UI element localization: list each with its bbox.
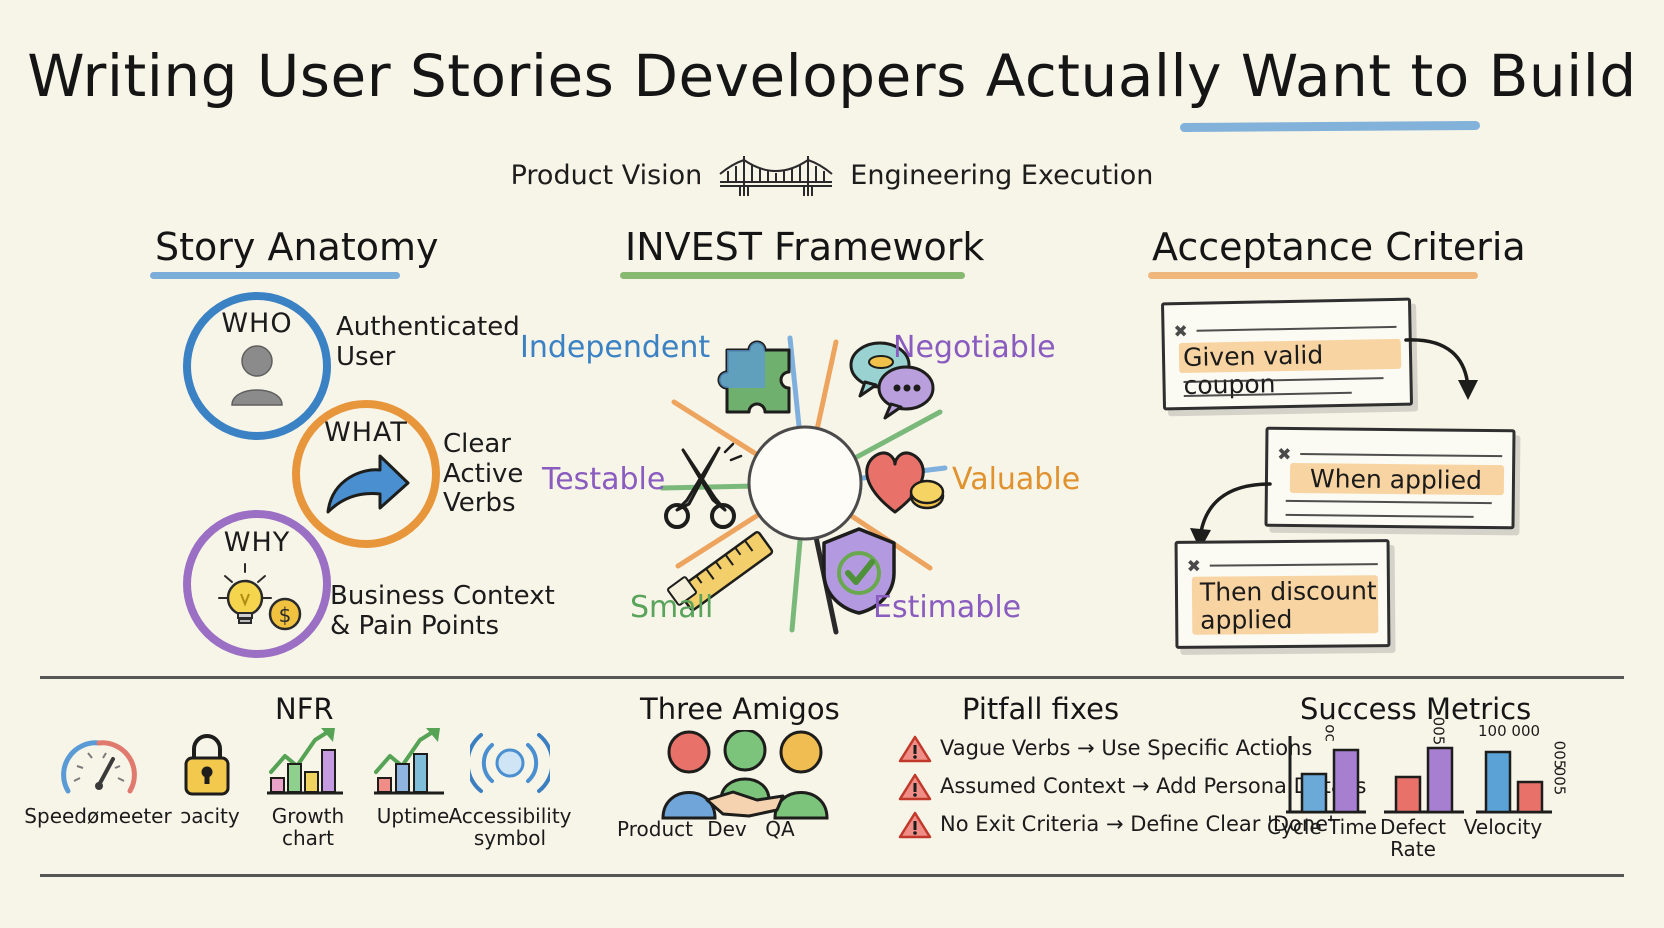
ac-card-then[interactable]: ✖ Then discount applied <box>1175 539 1391 649</box>
subtitle-right: Engineering Execution <box>850 160 1153 191</box>
band-divider-top <box>40 676 1624 679</box>
three-amigos-role-0: Product <box>610 818 700 840</box>
story-text-what: Clear Active Verbs <box>443 430 523 519</box>
success-metrics-title: Success Metrics <box>1300 692 1531 726</box>
nfr-label-4: Accessibility symbol <box>440 805 580 849</box>
close-icon[interactable]: ✖ <box>1187 557 1201 577</box>
close-icon[interactable]: ✖ <box>1173 322 1188 342</box>
nfr-label-2: Growth chart <box>248 805 368 849</box>
ac-card-given[interactable]: ✖ Given valid coupon <box>1161 298 1413 411</box>
story-ring-who-label: WHO <box>183 308 331 339</box>
invest-label-valuable: Valuable <box>952 462 1080 497</box>
invest-label-negotiable: Negotiable <box>893 330 1056 365</box>
close-icon[interactable]: ✖ <box>1277 445 1291 465</box>
invest-label-independent: Independent <box>520 330 710 365</box>
metric-chart-defect-rate <box>1378 730 1474 822</box>
ac-card-when-text: When applied <box>1310 465 1522 495</box>
ac-card-when[interactable]: ✖ When applied <box>1264 427 1515 530</box>
ac-rule <box>1300 453 1502 457</box>
story-text-who: Authenticated User <box>336 313 520 372</box>
nfr-title: NFR <box>275 692 334 726</box>
handshake-icon <box>645 730 845 826</box>
page-title: Writing User Stories Developers Actually… <box>0 42 1664 110</box>
ac-rule <box>1210 563 1378 566</box>
ac-rule <box>1286 500 1492 504</box>
curved-arrow-icon <box>1400 330 1486 416</box>
three-amigos-role-2: QA <box>745 818 815 840</box>
heart-coin-icon <box>855 440 951 524</box>
ac-card-then-text: Then discount applied <box>1200 577 1380 635</box>
metric-label-velocity: Velocity <box>1448 816 1558 838</box>
band-divider-bottom <box>40 874 1624 877</box>
person-icon <box>228 345 286 411</box>
pitfall-item-0: Vague Verbs → Use Specific Actions <box>940 736 1312 760</box>
uptime-chart-icon <box>370 724 452 804</box>
lock-icon <box>178 727 236 803</box>
warning-triangle-icon <box>898 734 932 768</box>
warning-triangle-icon <box>898 810 932 844</box>
column-title-invest: INVEST Framework <box>625 225 984 269</box>
ac-rule <box>1286 514 1474 518</box>
column-rule-story-anatomy <box>150 272 400 279</box>
title-underline <box>1180 121 1480 132</box>
column-title-acceptance: Acceptance Criteria <box>1152 225 1526 269</box>
story-text-why: Business Context & Pain Points <box>330 582 555 641</box>
column-title-story-anatomy: Story Anatomy <box>155 225 438 269</box>
pitfalls-title: Pitfall fixes <box>962 692 1119 726</box>
bridge-icon <box>716 152 836 198</box>
growth-chart-icon <box>265 724 347 804</box>
column-rule-acceptance <box>1148 272 1478 279</box>
accessibility-icon <box>470 727 550 803</box>
subtitle-row: Product Vision <box>0 152 1664 198</box>
ac-card-given-text: Given valid coupon <box>1183 340 1410 400</box>
column-rule-invest <box>620 272 965 279</box>
svg-text:$: $ <box>279 603 292 627</box>
metric-annotation-2: 100 000 <box>1478 722 1540 740</box>
story-ring-what-label: WHAT <box>292 417 440 448</box>
ac-rule <box>1197 326 1397 332</box>
metric-annotation-4: 005 <box>1550 767 1568 796</box>
puzzle-icon <box>715 338 801 428</box>
three-amigos-title: Three Amigos <box>640 692 840 726</box>
metric-annotation-0: oc <box>1322 724 1340 741</box>
arrow-icon <box>322 450 412 526</box>
infographic-canvas: Writing User Stories Developers Actually… <box>0 0 1664 928</box>
invest-label-estimable: Estimable <box>873 590 1021 625</box>
metric-annotation-1: 005 <box>1429 717 1447 746</box>
subtitle-left: Product Vision <box>511 160 703 191</box>
nfr-label-0: Speedømeeter <box>18 805 178 827</box>
invest-label-testable: Testable <box>542 462 665 497</box>
story-ring-why-label: WHY <box>183 527 331 558</box>
warning-triangle-icon <box>898 772 932 806</box>
scissors-icon <box>655 440 747 536</box>
metric-chart-cycle-time <box>1280 730 1376 822</box>
metric-annotation-3: 005 <box>1550 741 1568 770</box>
invest-label-small: Small <box>630 590 713 625</box>
lightbulb-icon: $ <box>215 558 307 640</box>
speedometer-icon <box>60 733 138 803</box>
